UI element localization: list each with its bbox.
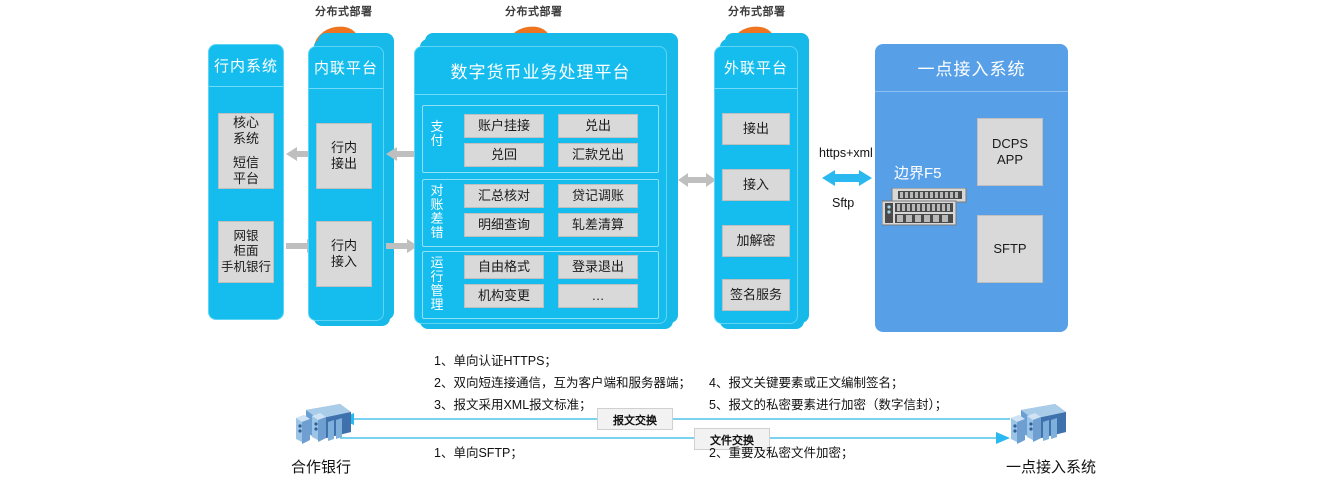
group-label-reconciliation: 对账差错 (429, 184, 445, 240)
panel-title-access-system: 一点接入系统 (875, 44, 1068, 92)
access-system-server-icon (1005, 402, 1067, 450)
panel-title-bank-internal-system: 行内系统 (209, 45, 283, 87)
chip-credit-adjust: 贷记调账 (558, 184, 638, 208)
deploy-caption-dcep: 分布式部署 (505, 3, 563, 19)
chip-exchange-out: 兑出 (558, 114, 638, 138)
flow-line-file-exchange (340, 432, 1010, 444)
chip-account-link: 账户挂接 (464, 114, 544, 138)
deploy-caption-external: 分布式部署 (728, 3, 786, 19)
partner-bank-server-icon (290, 402, 352, 450)
chip-intranet-inbound: 行内 接入 (316, 221, 372, 287)
chip-external-inbound: 接入 (722, 169, 790, 201)
deploy-caption-intranet: 分布式部署 (315, 3, 373, 19)
panel-title-external-platform: 外联平台 (715, 47, 797, 89)
chip-signature-service: 签名服务 (722, 279, 790, 311)
group-label-payment: 支付 (429, 120, 445, 148)
chip-external-outbound: 接出 (722, 113, 790, 145)
chip-encrypt-decrypt: 加解密 (722, 225, 790, 257)
note-right-5: 5、报文的私密要素进行加密（数字信封）； (709, 399, 947, 412)
note-bottom-left: 1、单向SFTP； (434, 447, 523, 460)
note-left-1: 1、单向认证HTTPS； (434, 355, 557, 368)
chip-netting-settlement: 轧差清算 (558, 213, 638, 237)
chip-free-format: 自由格式 (464, 255, 544, 279)
chip-intranet-outbound: 行内 接出 (316, 123, 372, 189)
panel-title-intranet-platform: 内联平台 (309, 47, 383, 89)
architecture-diagram: 分布式部署 分布式部署 分布式部署 行内系统 核心 系统 短信 平台 网银 柜面… (0, 0, 1333, 483)
f5-appliance-icon (882, 188, 968, 226)
link-label-sftp: Sftp (832, 196, 854, 210)
chip-more: … (558, 284, 638, 308)
caption-access-system-node: 一点接入系统 (996, 456, 1106, 477)
note-right-4: 4、报文关键要素或正文编制签名； (709, 377, 903, 390)
chip-dcps-app: DCPS APP (977, 118, 1043, 186)
chip-login-logout: 登录退出 (558, 255, 638, 279)
note-bottom-right: 2、重要及私密文件加密； (709, 447, 853, 460)
chip-summary-check: 汇总核对 (464, 184, 544, 208)
chip-detail-query: 明细查询 (464, 213, 544, 237)
panel-title-dcep-platform: 数字货币业务处理平台 (415, 47, 666, 95)
arrow-bidirectional-external-access-icon (822, 168, 872, 188)
note-left-3: 3、报文采用XML报文标准； (434, 399, 592, 412)
label-border-f5: 边界F5 (894, 162, 942, 183)
caption-partner-bank: 合作银行 (281, 456, 361, 477)
link-label-https-xml: https+xml (819, 146, 873, 160)
chip-remittance-out: 汇款兑出 (558, 143, 638, 167)
arrow-bidirectional-dcep-external-icon (678, 172, 716, 188)
note-left-2: 2、双向短连接通信，互为客户端和服务器端； (434, 377, 691, 390)
chip-core-system-sms: 核心 系统 短信 平台 (218, 113, 274, 189)
flow-line-message-exchange (340, 413, 1010, 425)
chip-org-change: 机构变更 (464, 284, 544, 308)
chip-exchange-back: 兑回 (464, 143, 544, 167)
tag-message-exchange: 报文交换 (597, 408, 673, 430)
chip-ebank-counter-mobile: 网银 柜面 手机银行 (218, 221, 274, 283)
group-label-operation-management: 运行管理 (429, 256, 445, 312)
chip-sftp: SFTP (977, 215, 1043, 283)
